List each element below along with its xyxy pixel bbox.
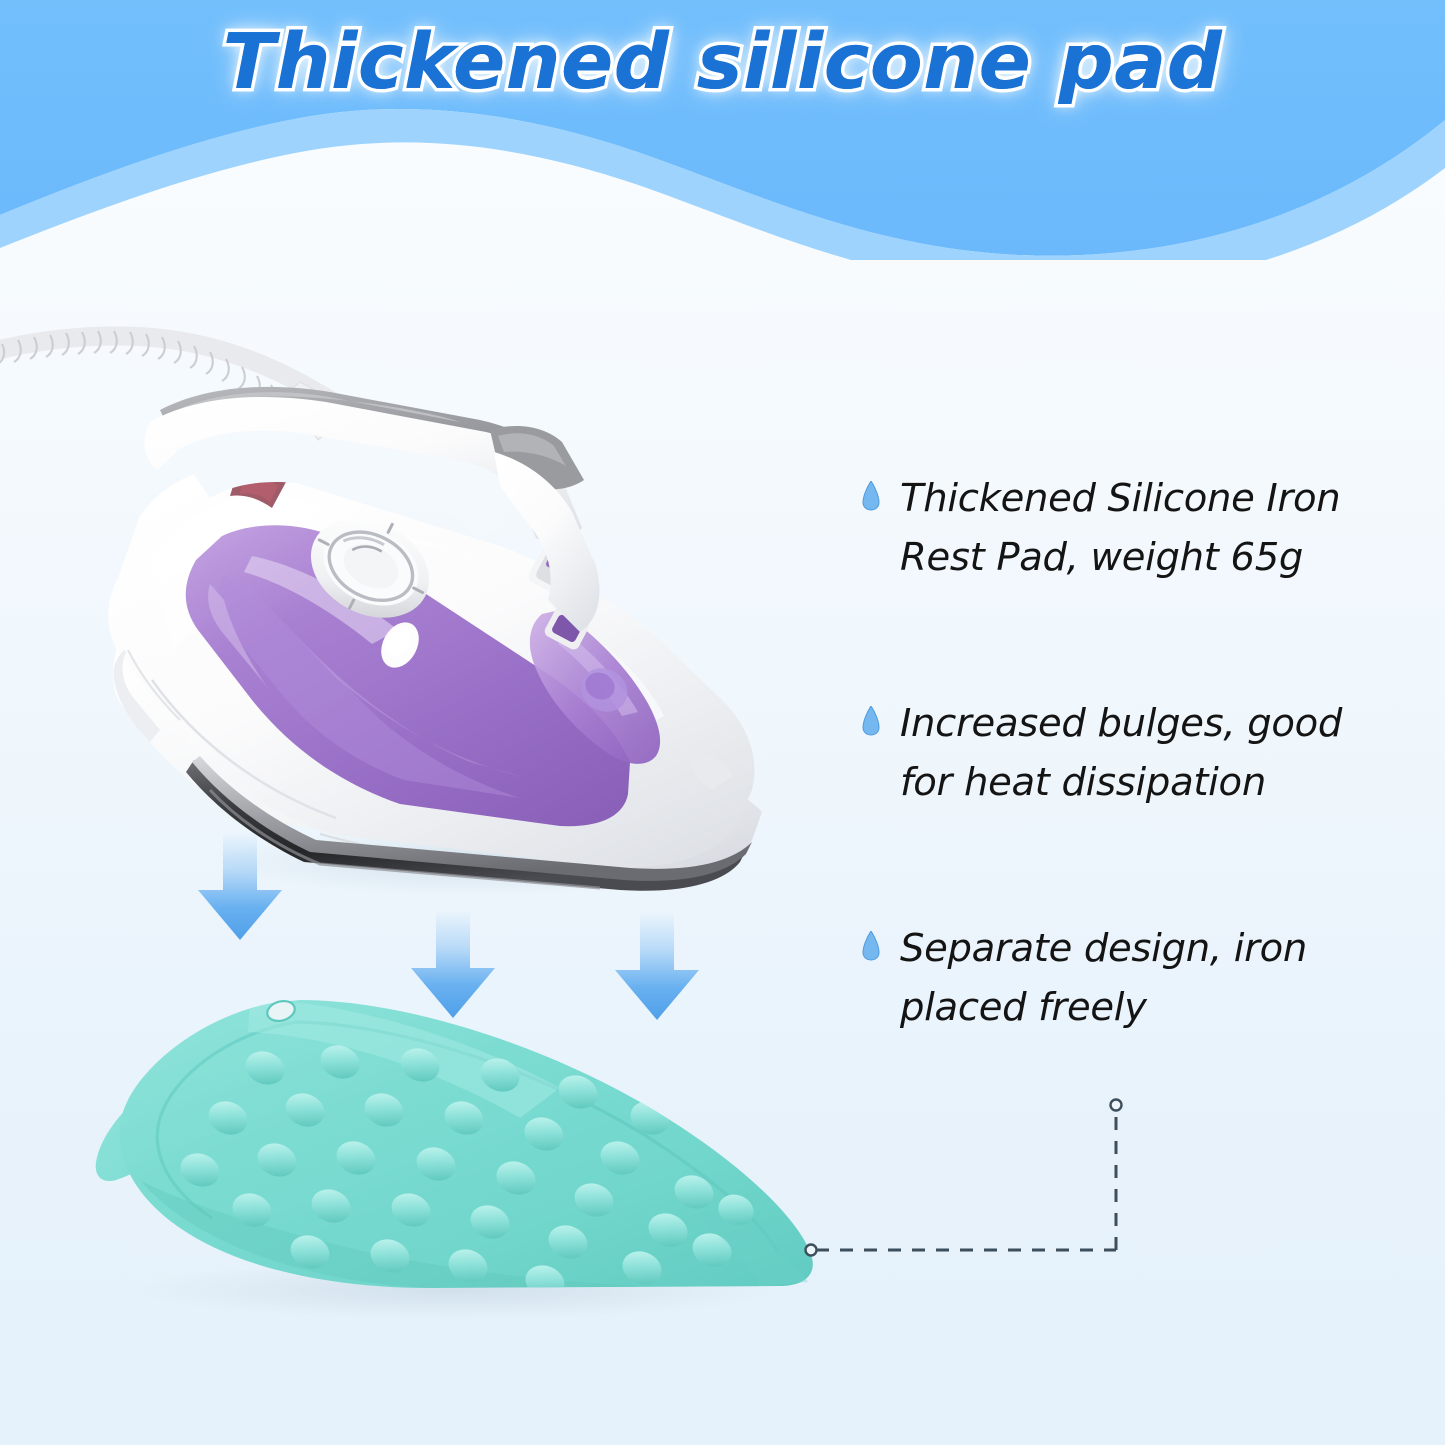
feature-text: Thickened Silicone Iron Rest Pad, weight… — [900, 470, 1432, 587]
callout-endpoint-left — [806, 1245, 817, 1256]
silicone-iron-rest-pad — [96, 998, 813, 1304]
downward-arrow — [615, 912, 699, 1020]
feature-list: Thickened Silicone Iron Rest Pad, weight… — [862, 470, 1432, 1037]
feature-text: Increased bulges, good for heat dissipat… — [900, 695, 1400, 812]
callout-leader-line — [780, 1080, 1200, 1300]
steam-iron — [108, 387, 762, 891]
feature-item: Thickened Silicone Iron Rest Pad, weight… — [862, 470, 1432, 587]
feature-item: Separate design, iron placed freely — [862, 920, 1432, 1037]
downward-arrow — [411, 910, 495, 1018]
callout-endpoint-top — [1111, 1100, 1122, 1111]
page-title: Thickened silicone pad — [0, 18, 1445, 107]
feature-item: Increased bulges, good for heat dissipat… — [862, 695, 1432, 812]
feature-text: Separate design, iron placed freely — [900, 920, 1320, 1037]
iron-pad-bullet-icon — [862, 481, 880, 511]
iron-pad-bullet-icon — [862, 706, 880, 736]
iron-pad-bullet-icon — [862, 931, 880, 961]
infographic-page: Thickened silicone pad Thickened silicon… — [0, 0, 1445, 1445]
